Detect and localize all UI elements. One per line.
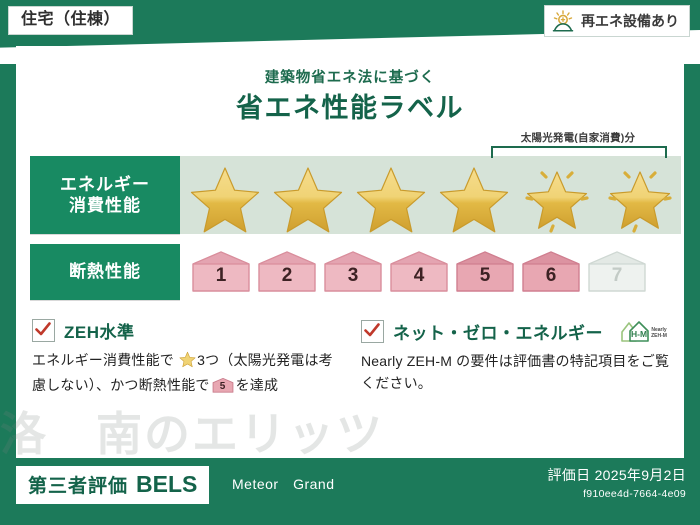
- inline-star-icon: [179, 351, 196, 375]
- solar-contribution-bracket: [491, 146, 667, 158]
- zeh-standard-header: ZEH水準: [32, 318, 343, 343]
- insulation-grade-badge: 4: [388, 250, 450, 294]
- insulation-performance-row: 断熱性能 1: [30, 244, 670, 300]
- label-title: 省エネ性能ラベル: [16, 86, 684, 125]
- net-zero-description: Nearly ZEH-M の要件は評価書の特記項目をご覧ください。: [361, 351, 672, 394]
- insulation-grade-badge: 1: [190, 250, 252, 294]
- zeh-desc-part1: エネルギー消費性能で: [32, 352, 174, 368]
- insulation-grade-value: 1: [216, 265, 227, 294]
- certification-checks: ZEH水準 エネルギー消費性能で 3つ（太陽光発電は考慮しない）、かつ断熱性能で…: [32, 318, 672, 396]
- sun-solar-icon: [551, 10, 575, 32]
- bels-en-label: BELS: [136, 471, 197, 498]
- insulation-grade-badge: 5: [454, 250, 516, 294]
- insulation-grade-value: 7: [612, 265, 623, 294]
- bels-certification-mark: 第三者評価 BELS: [16, 466, 209, 504]
- inline-insulation-badge-icon: 5: [212, 377, 234, 394]
- insulation-grade-value: 4: [414, 265, 425, 294]
- inline-badge-value: 5: [212, 379, 234, 395]
- bels-energy-label: 住宅（住棟） 再エネ設備あり 建築物省エネ法に基づく 省エネ性能ラベル: [0, 0, 700, 525]
- renewable-badge-label: 再エネ設備あり: [581, 14, 679, 28]
- zeh-desc-part3: を達成: [236, 377, 279, 393]
- star-icon: [271, 159, 349, 231]
- insulation-badges-area: 1 2: [180, 244, 670, 300]
- label-card: 建築物省エネ法に基づく 省エネ性能ラベル エネルギー 消費性能 太陽光発電(自家…: [16, 46, 684, 458]
- energy-stars-area: 太陽光発電(自家消費)分: [180, 156, 681, 234]
- net-zero-header: ネット・ゼロ・エネルギー H-M Nearly ZEH-M: [361, 318, 672, 344]
- insulation-grade-value: 6: [546, 265, 557, 294]
- building-type-chip: 住宅（住棟）: [8, 6, 133, 35]
- insulation-grade-badge: 2: [256, 250, 318, 294]
- evaluation-info: 評価日 2025年9月2日 f910ee4d-7664-4e09: [547, 465, 686, 500]
- net-zero-title: ネット・ゼロ・エネルギー: [393, 319, 603, 344]
- insulation-grade-value: 2: [282, 265, 293, 294]
- solar-contribution-caption: 太陽光発電(自家消費)分: [483, 130, 673, 145]
- evaluation-date: 評価日 2025年9月2日: [547, 465, 686, 485]
- svg-text:H-M: H-M: [631, 329, 647, 339]
- insulation-grade-value: 5: [480, 265, 491, 294]
- star-solar-icon: [603, 159, 681, 231]
- star-solar-icon: [520, 159, 598, 231]
- star-icon: [437, 159, 515, 231]
- star-icon: [188, 159, 266, 231]
- insulation-grade-badge: 6: [520, 250, 582, 294]
- checkbox-checked-icon[interactable]: [32, 319, 55, 342]
- zeh-standard-title: ZEH水準: [64, 318, 135, 343]
- renewable-energy-badge: 再エネ設備あり: [544, 5, 690, 37]
- evaluation-id: f910ee4d-7664-4e09: [547, 488, 686, 500]
- insulation-grade-badge-inactive: 7: [586, 250, 648, 294]
- zeh-standard-description: エネルギー消費性能で 3つ（太陽光発電は考慮しない）、かつ断熱性能で 5 を達成: [32, 350, 343, 396]
- insulation-grade-value: 3: [348, 265, 359, 294]
- bels-jp-label: 第三者評価: [28, 471, 128, 498]
- energy-performance-label: エネルギー 消費性能: [30, 156, 180, 234]
- energy-star-rating: [180, 159, 681, 231]
- zeh-m-logo-icon: H-M Nearly ZEH-M: [618, 318, 672, 344]
- svg-text:ZEH-M: ZEH-M: [651, 333, 667, 339]
- project-names: Meteor Grand: [232, 474, 334, 494]
- star-icon: [354, 159, 432, 231]
- label-subtitle: 建築物省エネ法に基づく: [16, 66, 684, 87]
- zeh-standard-check: ZEH水準 エネルギー消費性能で 3つ（太陽光発電は考慮しない）、かつ断熱性能で…: [32, 318, 343, 396]
- label-footer: 第三者評価 BELS Meteor Grand 評価日 2025年9月2日 f9…: [0, 462, 700, 525]
- insulation-performance-label: 断熱性能: [30, 244, 180, 300]
- checkbox-checked-icon[interactable]: [361, 320, 384, 343]
- net-zero-energy-check: ネット・ゼロ・エネルギー H-M Nearly ZEH-M Nearly ZEH…: [361, 318, 672, 396]
- energy-label-line1: エネルギー: [60, 174, 150, 195]
- insulation-grade-badge: 3: [322, 250, 384, 294]
- energy-performance-row: エネルギー 消費性能 太陽光発電(自家消費)分: [30, 156, 670, 234]
- insulation-grade-scale: 1 2: [180, 250, 648, 294]
- energy-label-line2: 消費性能: [69, 195, 141, 216]
